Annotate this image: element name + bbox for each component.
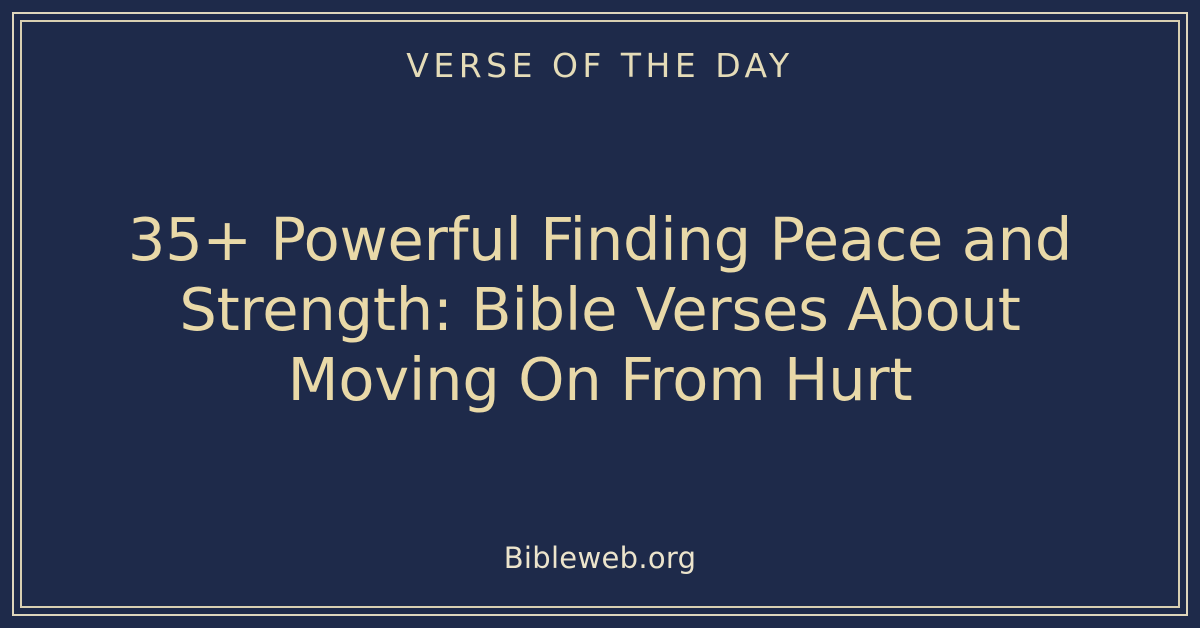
site-attribution: Bibleweb.org xyxy=(504,541,697,576)
eyebrow-label: VERSE OF THE DAY xyxy=(406,48,793,84)
page-title: 35+ Powerful Finding Peace and Strength:… xyxy=(100,205,1100,415)
verse-of-the-day-card: VERSE OF THE DAY 35+ Powerful Finding Pe… xyxy=(0,0,1200,628)
card-content: VERSE OF THE DAY 35+ Powerful Finding Pe… xyxy=(30,30,1170,598)
headline-container: 35+ Powerful Finding Peace and Strength:… xyxy=(30,84,1170,541)
